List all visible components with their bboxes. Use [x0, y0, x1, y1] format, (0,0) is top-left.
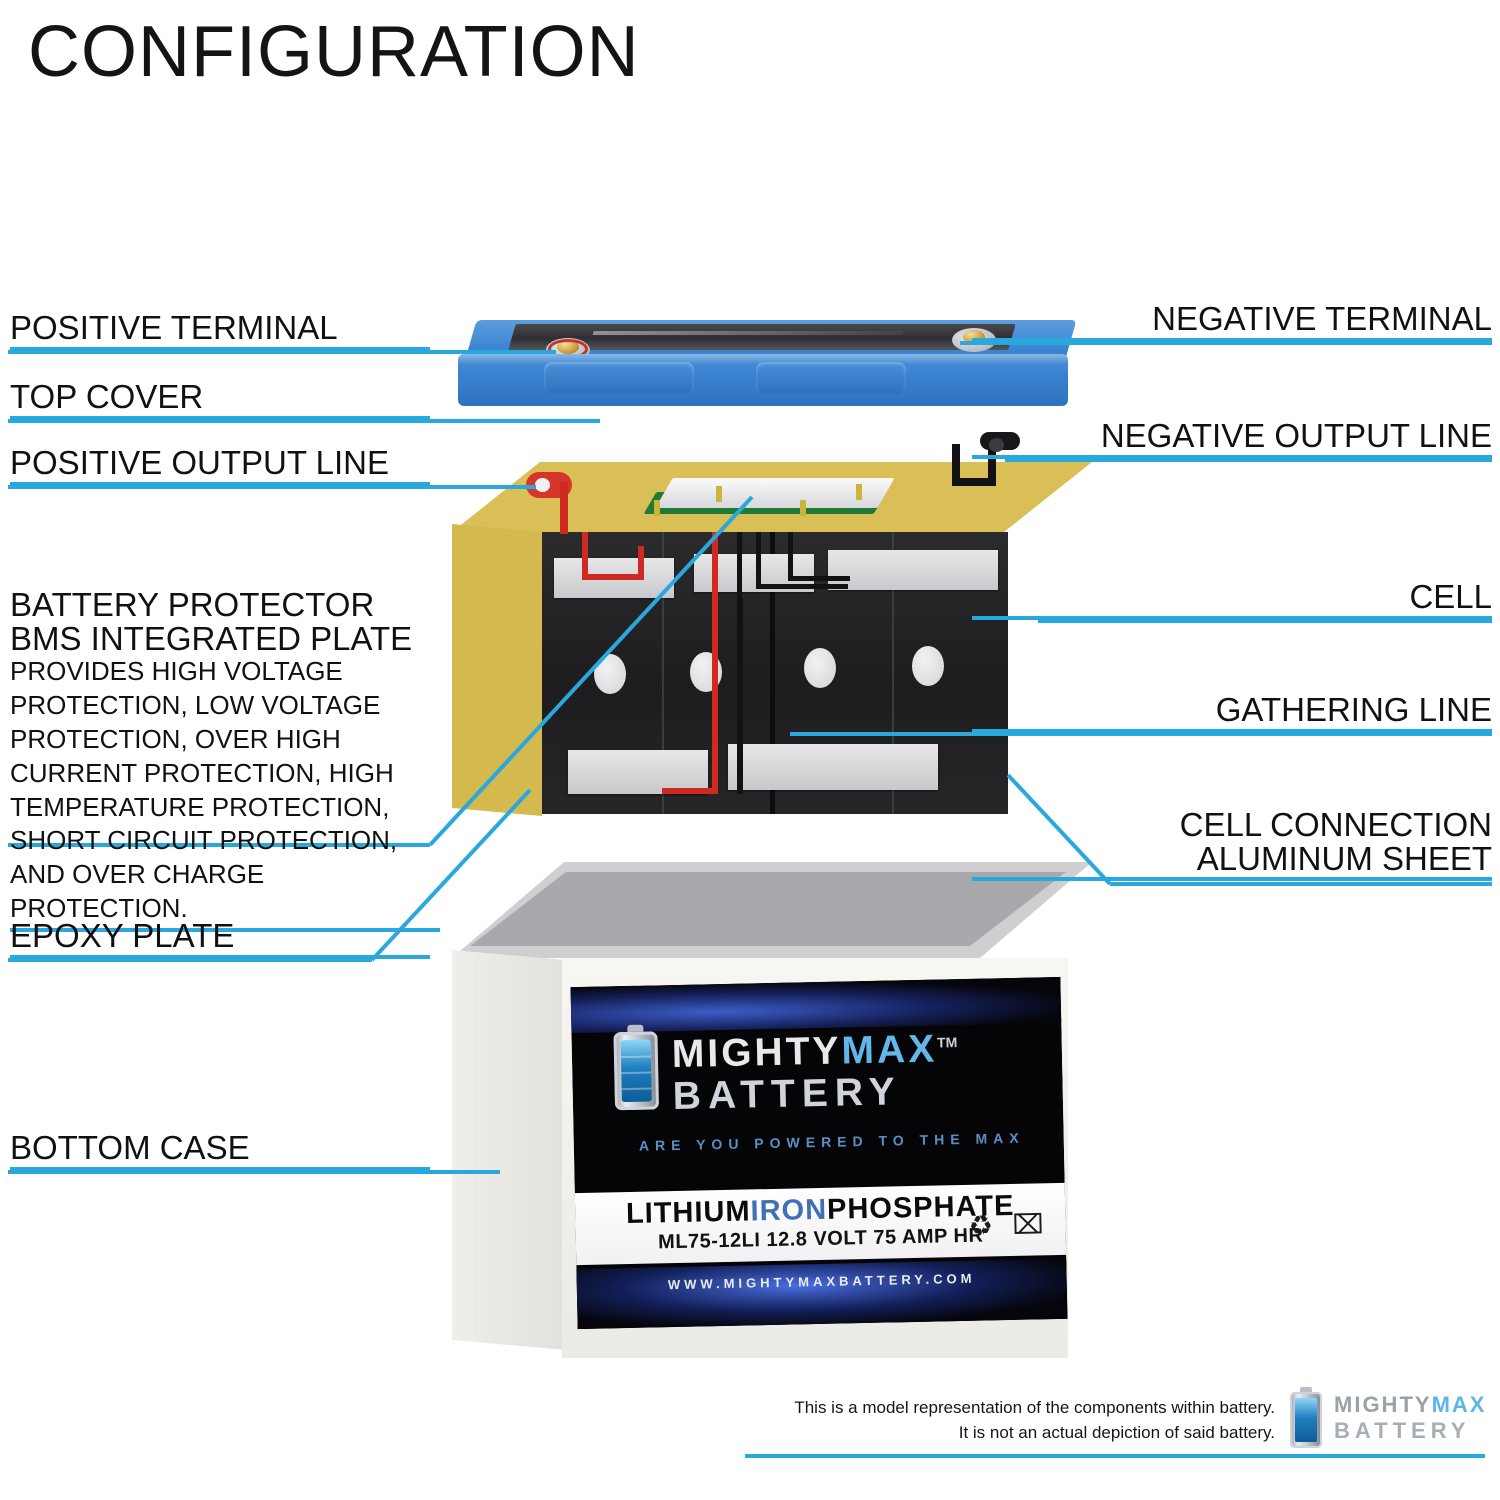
cell-assembly-illustration [452, 462, 1092, 842]
gathering-line-wire [756, 584, 848, 589]
bms-integrated-plate-part [650, 478, 882, 520]
footer-rule [745, 1454, 1485, 1458]
chemistry-lithium: LITHIUM [626, 1195, 751, 1230]
callout-cell[interactable]: CELL [972, 580, 1492, 620]
callout-top-cover[interactable]: TOP COVER [10, 380, 430, 420]
trademark-symbol: TM [937, 1034, 958, 1050]
footer-disclaimer-line2: It is not an actual depiction of said ba… [745, 1421, 1275, 1446]
callout-cell-label: CELL [972, 580, 1492, 614]
footer-disclaimer: This is a model representation of the co… [745, 1396, 1275, 1445]
bms-standoff [654, 500, 660, 516]
footer-logo-line1: MIGHTYMAX [1334, 1392, 1486, 1418]
bms-standoff [856, 484, 862, 500]
gathering-line-wire [737, 532, 742, 602]
positive-output-cable [560, 482, 568, 534]
top-cover-handle-left [544, 362, 694, 394]
bms-standoff [716, 486, 722, 502]
footer-logo-max: MAX [1432, 1392, 1487, 1417]
callout-battery-protector-label: BATTERY PROTECTOR [10, 588, 440, 622]
cell-vent [912, 646, 944, 686]
callout-negative-terminal[interactable]: NEGATIVE TERMINAL [972, 302, 1492, 342]
gathering-line-wire [788, 576, 850, 581]
gathering-line-wire [788, 532, 793, 580]
page-title: CONFIGURATION [28, 16, 640, 88]
cell-vent [804, 648, 836, 688]
callout-underline [10, 347, 430, 351]
callout-positive-terminal-label: POSITIVE TERMINAL [10, 311, 430, 345]
bottom-case-interior [470, 872, 1066, 946]
product-label: MIGHTYMAXTM BATTERY ARE YOU POWERED TO T… [570, 977, 1067, 1329]
cell-vent [594, 654, 626, 694]
bottom-case-left-face [452, 950, 566, 1350]
callout-top-cover-label: TOP COVER [10, 380, 430, 414]
callout-epoxy-plate-label: EPOXY PLATE [10, 919, 430, 953]
brand-max: MAX [841, 1028, 938, 1073]
callout-underline [10, 482, 430, 486]
footer-logo-mighty: MIGHTY [1334, 1392, 1432, 1417]
callout-bms-description: PROVIDES HIGH VOLTAGE PROTECTION, LOW VO… [10, 655, 440, 925]
battery-icon-fill [621, 1040, 652, 1103]
callout-bottom-case[interactable]: BOTTOM CASE [10, 1131, 430, 1171]
callout-negative-terminal-label: NEGATIVE TERMINAL [972, 302, 1492, 336]
brand-name-line1: MIGHTYMAXTM [671, 1027, 957, 1077]
brand-lockup: MIGHTYMAXTM BATTERY [613, 1020, 1025, 1139]
callout-bms-plate-label: BMS INTEGRATED PLATE [10, 622, 440, 656]
callout-underline [972, 338, 1492, 342]
callout-bottom-case-label: BOTTOM CASE [10, 1131, 430, 1165]
callout-gathering-line[interactable]: GATHERING LINE [972, 693, 1492, 733]
gathering-line-wire [737, 598, 743, 794]
cell-connection-aluminum-sheet [728, 744, 938, 790]
positive-output-wire [712, 532, 718, 794]
callout-underline [10, 955, 430, 959]
footer-logo: MIGHTYMAX BATTERY [1290, 1390, 1485, 1452]
footer-battery-icon [1290, 1392, 1322, 1448]
callout-underline [972, 877, 1492, 881]
callout-underline [10, 416, 430, 420]
chemistry-iron: IRON [750, 1194, 827, 1228]
top-cover-handle-right [756, 362, 906, 394]
callout-positive-terminal[interactable]: POSITIVE TERMINAL [10, 311, 430, 351]
callout-negative-output-line[interactable]: NEGATIVE OUTPUT LINE [972, 419, 1492, 459]
bottom-case-illustration: MIGHTYMAXTM BATTERY ARE YOU POWERED TO T… [452, 862, 1092, 1370]
positive-output-wire [582, 532, 588, 580]
callout-positive-output-line[interactable]: POSITIVE OUTPUT LINE [10, 446, 430, 486]
callout-underline [10, 1167, 430, 1171]
battery-icon [613, 1031, 659, 1110]
epoxy-plate-left-face [452, 524, 542, 816]
callout-positive-output-line-label: POSITIVE OUTPUT LINE [10, 446, 430, 480]
recycle-icons: ♻ ⌧ [968, 1209, 1049, 1242]
callout-gathering-line-label: GATHERING LINE [972, 693, 1492, 727]
brand-name-line2: BATTERY [672, 1070, 902, 1119]
callout-underline [972, 455, 1492, 459]
callout-epoxy-plate[interactable]: EPOXY PLATE [10, 919, 430, 959]
brand-mighty: MIGHTY [671, 1030, 842, 1077]
footer: This is a model representation of the co… [745, 1390, 1485, 1476]
callout-negative-output-line-label: NEGATIVE OUTPUT LINE [972, 419, 1492, 453]
cell-stack [542, 532, 1008, 814]
callout-bms[interactable]: BATTERY PROTECTOR BMS INTEGRATED PLATE P… [10, 588, 440, 932]
diagram-canvas: CONFIGURATION [0, 0, 1500, 1500]
callout-cell-connection-line2: ALUMINUM SHEET [972, 842, 1492, 876]
callout-underline [972, 616, 1492, 620]
callout-underline [972, 729, 1492, 733]
gathering-line-wire [756, 532, 761, 588]
positive-output-wire [582, 574, 644, 580]
callout-cell-connection-aluminum-sheet[interactable]: CELL CONNECTION ALUMINUM SHEET [972, 808, 1492, 881]
positive-output-wire [638, 546, 644, 580]
positive-output-wire [662, 788, 718, 794]
bms-standoff [800, 500, 806, 516]
footer-disclaimer-line1: This is a model representation of the co… [745, 1396, 1275, 1421]
footer-logo-line2: BATTERY [1334, 1418, 1470, 1444]
callout-cell-connection-line1: CELL CONNECTION [972, 808, 1492, 842]
